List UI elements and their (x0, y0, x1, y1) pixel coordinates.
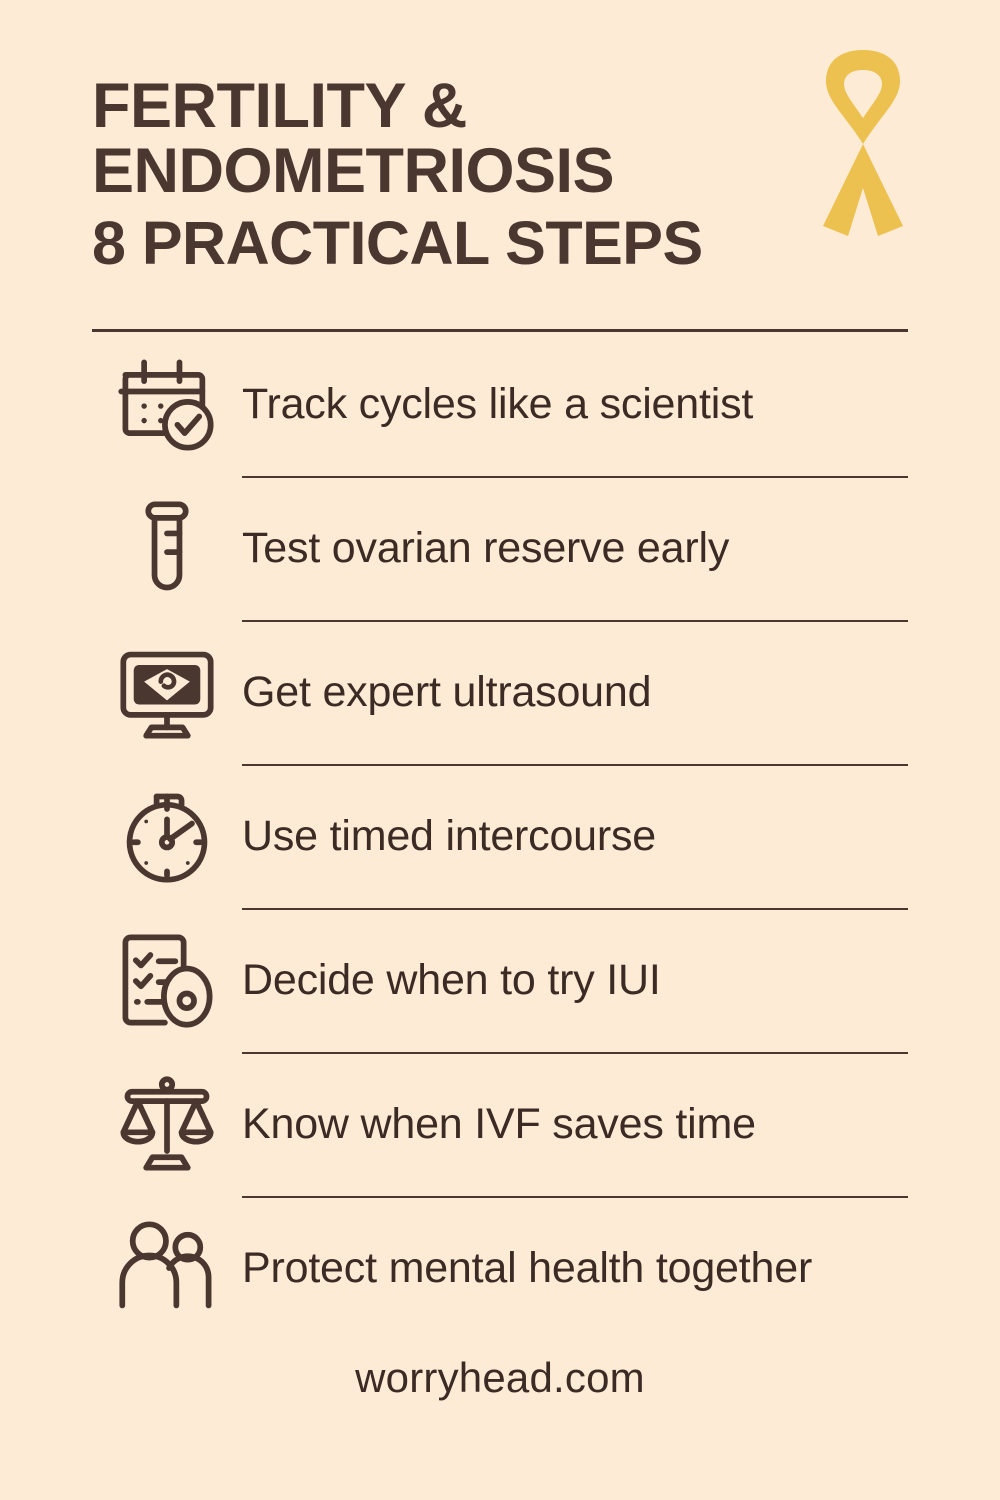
title-line-1: FERTILITY & (92, 74, 812, 139)
checklist-egg-icon (92, 928, 242, 1032)
website-label: worryhead.com (355, 1354, 645, 1401)
list-item-label: Track cycles like a scientist (242, 380, 753, 428)
list-item: Use timed intercourse (92, 764, 908, 908)
list-item-text-cell: Track cycles like a scientist (242, 332, 908, 476)
list-item-text-cell: Get expert ultrasound (242, 620, 908, 764)
ultrasound-monitor-icon (92, 640, 242, 744)
stopwatch-icon (92, 784, 242, 888)
list-item: Track cycles like a scientist (92, 332, 908, 476)
list-item-label: Decide when to try IUI (242, 956, 661, 1004)
list-item-label: Test ovarian reserve early (242, 524, 729, 572)
calendar-check-icon (92, 352, 242, 456)
steps-list: Track cycles like a scientist Test ovari… (92, 332, 908, 1340)
list-item: Get expert ultrasound (92, 620, 908, 764)
two-people-icon (92, 1216, 242, 1320)
poster-footer: worryhead.com (92, 1354, 908, 1442)
balance-scales-icon (92, 1072, 242, 1176)
title-line-3: 8 PRACTICAL STEPS (92, 212, 812, 275)
list-item: Know when IVF saves time (92, 1052, 908, 1196)
list-item: Protect mental health together (92, 1196, 908, 1340)
list-item-text-cell: Protect mental health together (242, 1196, 908, 1340)
list-item-text-cell: Decide when to try IUI (242, 908, 908, 1052)
poster-header: FERTILITY & ENDOMETRIOSIS 8 PRACTICAL ST… (92, 0, 908, 275)
title-line-2: ENDOMETRIOSIS (92, 139, 812, 204)
infographic-poster: FERTILITY & ENDOMETRIOSIS 8 PRACTICAL ST… (0, 0, 1000, 1500)
list-item: Test ovarian reserve early (92, 476, 908, 620)
list-item-text-cell: Test ovarian reserve early (242, 476, 908, 620)
test-tube-icon (92, 496, 242, 600)
list-item-text-cell: Know when IVF saves time (242, 1052, 908, 1196)
list-item: Decide when to try IUI (92, 908, 908, 1052)
list-item-text-cell: Use timed intercourse (242, 764, 908, 908)
awareness-ribbon-icon (808, 48, 918, 238)
list-item-label: Protect mental health together (242, 1244, 812, 1292)
list-item-label: Know when IVF saves time (242, 1100, 756, 1148)
page-title: FERTILITY & ENDOMETRIOSIS 8 PRACTICAL ST… (92, 74, 812, 275)
list-item-label: Use timed intercourse (242, 812, 656, 860)
list-item-label: Get expert ultrasound (242, 668, 651, 716)
